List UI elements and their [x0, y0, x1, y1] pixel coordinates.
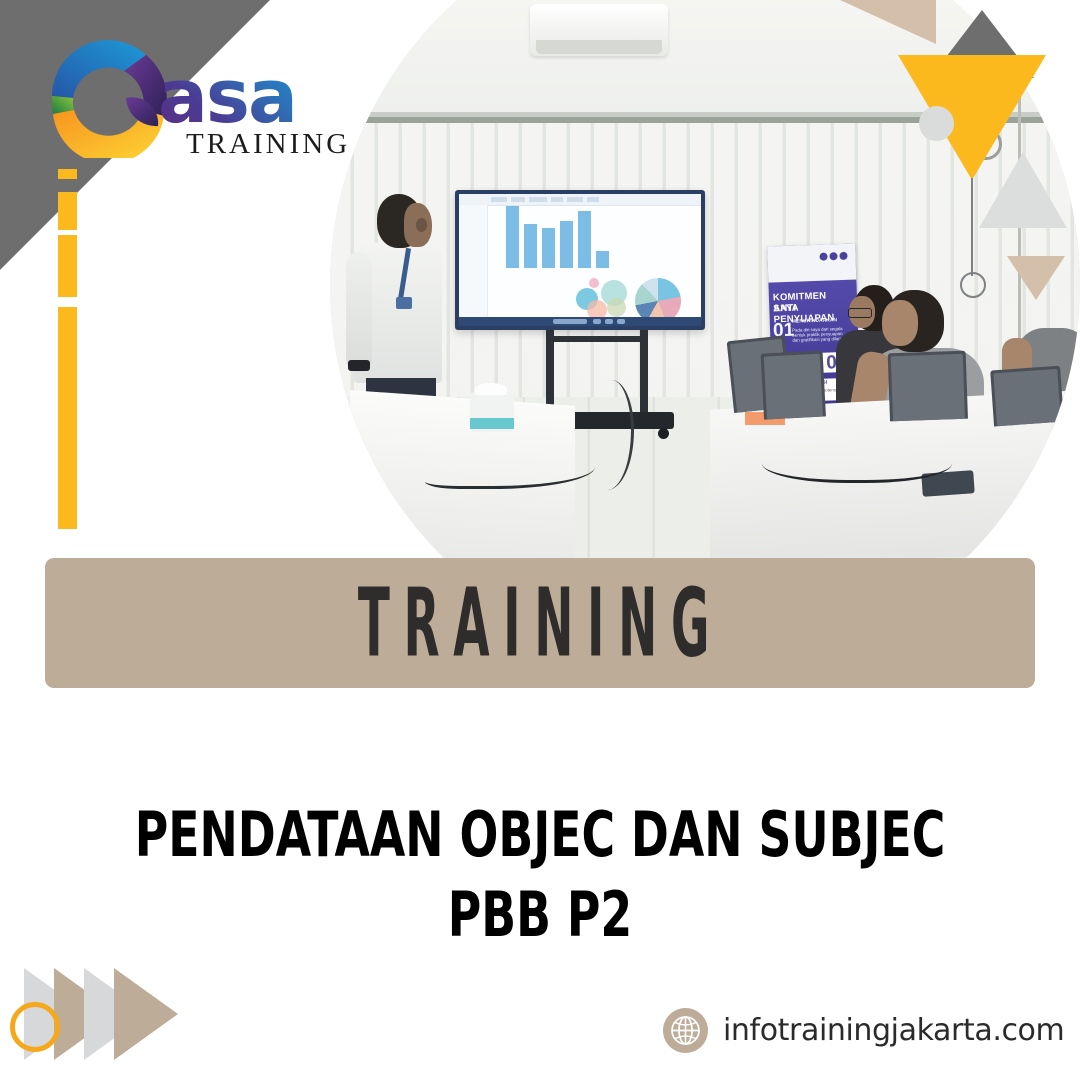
presenter-watch: [348, 360, 370, 371]
participant-gray-face: [882, 300, 918, 346]
casa-training-logo: asa TRAINING: [38, 18, 348, 168]
stand-caster: [658, 428, 669, 439]
chart-bar: [542, 228, 555, 268]
page-title-line-2: PBB P2: [130, 875, 950, 955]
app-ribbon: [459, 194, 701, 206]
globe-icon: [663, 1008, 708, 1053]
laptop[interactable]: [990, 366, 1064, 427]
presenter-arm: [346, 252, 372, 372]
orange-ring-icon: [10, 1002, 60, 1052]
chart-bubble: [589, 278, 599, 288]
accent-dash-3: [58, 235, 77, 297]
training-banner: TRAINING: [45, 558, 1035, 688]
display-stand-crossbar: [546, 336, 648, 342]
display-screen: [459, 194, 701, 326]
chart-bar: [578, 211, 591, 268]
presentation-display: [455, 190, 705, 330]
light-circle-icon: [919, 106, 954, 141]
casa-circular-logo-icon: [38, 18, 178, 158]
air-conditioner-vent: [536, 40, 662, 54]
poster-header: [767, 244, 856, 283]
website-footer[interactable]: infotrainingjakarta.com: [663, 1008, 1064, 1053]
tissue-box-band: [470, 418, 514, 429]
laptop[interactable]: [761, 350, 826, 419]
page-title: PENDATAAN OBJEC DAN SUBJEC PBB P2: [40, 795, 1040, 955]
chart-bar: [524, 224, 537, 268]
training-banner-label: TRAINING: [357, 576, 722, 670]
chart-bar: [596, 251, 609, 268]
display-taskbar: [459, 317, 701, 326]
accent-dash-4: [58, 307, 77, 529]
hanging-rod-ring-icon: [960, 272, 986, 298]
chart-bubble: [607, 298, 626, 317]
logo-subtitle: TRAINING: [186, 128, 350, 161]
poster-label-1: MENGHINDARKAN: [792, 318, 850, 325]
participant-glasses-icon: [848, 308, 872, 318]
chart-bar: [506, 206, 519, 268]
display-stand-post: [640, 330, 648, 415]
chart-bar: [560, 221, 573, 268]
logo-wordmark: asa: [158, 60, 296, 134]
hanging-rod-line: [971, 178, 973, 276]
app-sidebar: [459, 205, 488, 326]
presenter-ear: [416, 218, 427, 232]
presenter-badge: [396, 297, 412, 309]
arrow-4-icon: [114, 968, 178, 1060]
desk-cable: [762, 440, 952, 483]
accent-dash-1: [58, 169, 77, 179]
accent-dash-2: [58, 192, 77, 230]
laptop[interactable]: [888, 351, 968, 422]
display-stand-post: [546, 330, 554, 415]
page-title-line-1: PENDATAAN OBJEC DAN SUBJEC: [130, 795, 950, 875]
poster-canvas: KOMITMEN SAYA ANTI PENYUAPAN 01 MENGHIND…: [0, 0, 1080, 1080]
website-url[interactable]: infotrainingjakarta.com: [723, 1013, 1064, 1048]
